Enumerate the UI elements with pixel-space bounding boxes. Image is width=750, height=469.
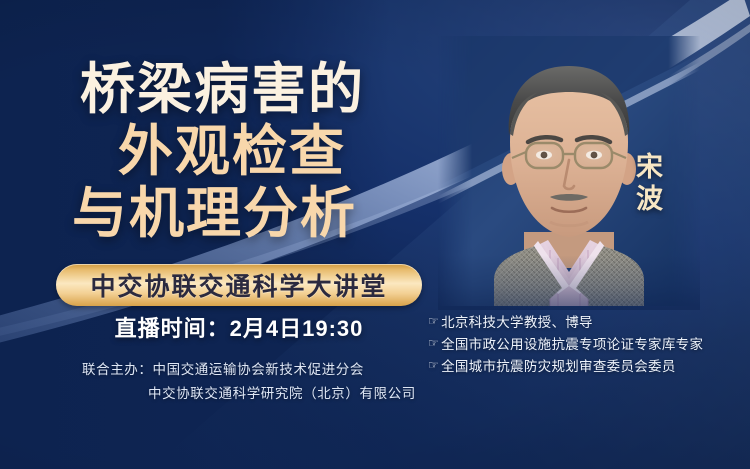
poster-title: 桥梁病害的 外观检查 与机理分析 bbox=[0, 62, 430, 241]
series-banner-pill: 中交协联交通科学大讲堂 bbox=[56, 264, 422, 306]
live-time-text: 直播时间：2月4日19:30 bbox=[56, 311, 422, 343]
credential-item: ☞ 全国城市抗震防灾规划审查委员会委员 bbox=[428, 356, 740, 378]
webinar-poster: 桥梁病害的 外观检查 与机理分析 中交协联交通科学大讲堂 直播时间：2月4日19… bbox=[0, 0, 750, 469]
organizer-line-1: 联合主办：中国交通运输协会新技术促进分会 bbox=[50, 358, 440, 382]
credential-item: ☞ 全国市政公用设施抗震专项论证专家库专家 bbox=[428, 334, 740, 356]
pointing-hand-icon: ☞ bbox=[428, 334, 439, 353]
title-line-1: 桥梁病害的 bbox=[80, 62, 430, 117]
credential-text: 北京科技大学教授、博导 bbox=[441, 312, 593, 334]
title-line-2: 外观检查 bbox=[118, 124, 430, 179]
speaker-credentials: ☞ 北京科技大学教授、博导 ☞ 全国市政公用设施抗震专项论证专家库专家 ☞ 全国… bbox=[428, 312, 740, 378]
credential-text: 全国市政公用设施抗震专项论证专家库专家 bbox=[441, 334, 703, 356]
title-line-3: 与机理分析 bbox=[72, 186, 430, 241]
organizer-block: 联合主办：中国交通运输协会新技术促进分会 中交协联交通科学研究院（北京）有限公司 bbox=[50, 358, 440, 405]
series-banner-label: 中交协联交通科学大讲堂 bbox=[90, 267, 387, 303]
organizer-line-2: 中交协联交通科学研究院（北京）有限公司 bbox=[50, 382, 440, 406]
speaker-name: 宋波 bbox=[628, 152, 672, 216]
credential-text: 全国城市抗震防灾规划审查委员会委员 bbox=[441, 356, 676, 378]
pointing-hand-icon: ☞ bbox=[428, 312, 439, 331]
pointing-hand-icon: ☞ bbox=[428, 356, 439, 375]
credential-item: ☞ 北京科技大学教授、博导 bbox=[428, 312, 740, 334]
